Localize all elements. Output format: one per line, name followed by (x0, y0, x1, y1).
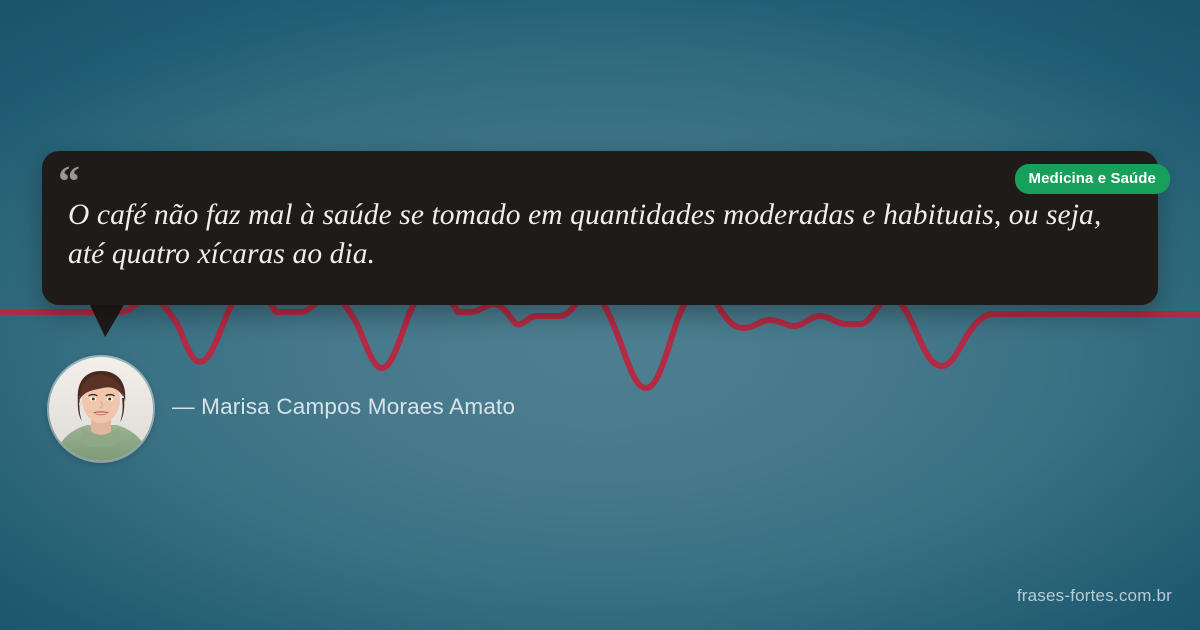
category-badge[interactable]: Medicina e Saúde (1015, 164, 1170, 194)
site-watermark: frases-fortes.com.br (1017, 586, 1172, 606)
author-avatar[interactable] (49, 357, 153, 461)
avatar-portrait-illustration (49, 357, 153, 461)
quote-text: O café não faz mal à saúde se tomado em … (68, 196, 1128, 274)
speech-bubble-tail (88, 303, 128, 339)
author-name: — Marisa Campos Moraes Amato (172, 394, 515, 420)
quote-image-card: “ O café não faz mal à saúde se tomado e… (0, 0, 1200, 630)
